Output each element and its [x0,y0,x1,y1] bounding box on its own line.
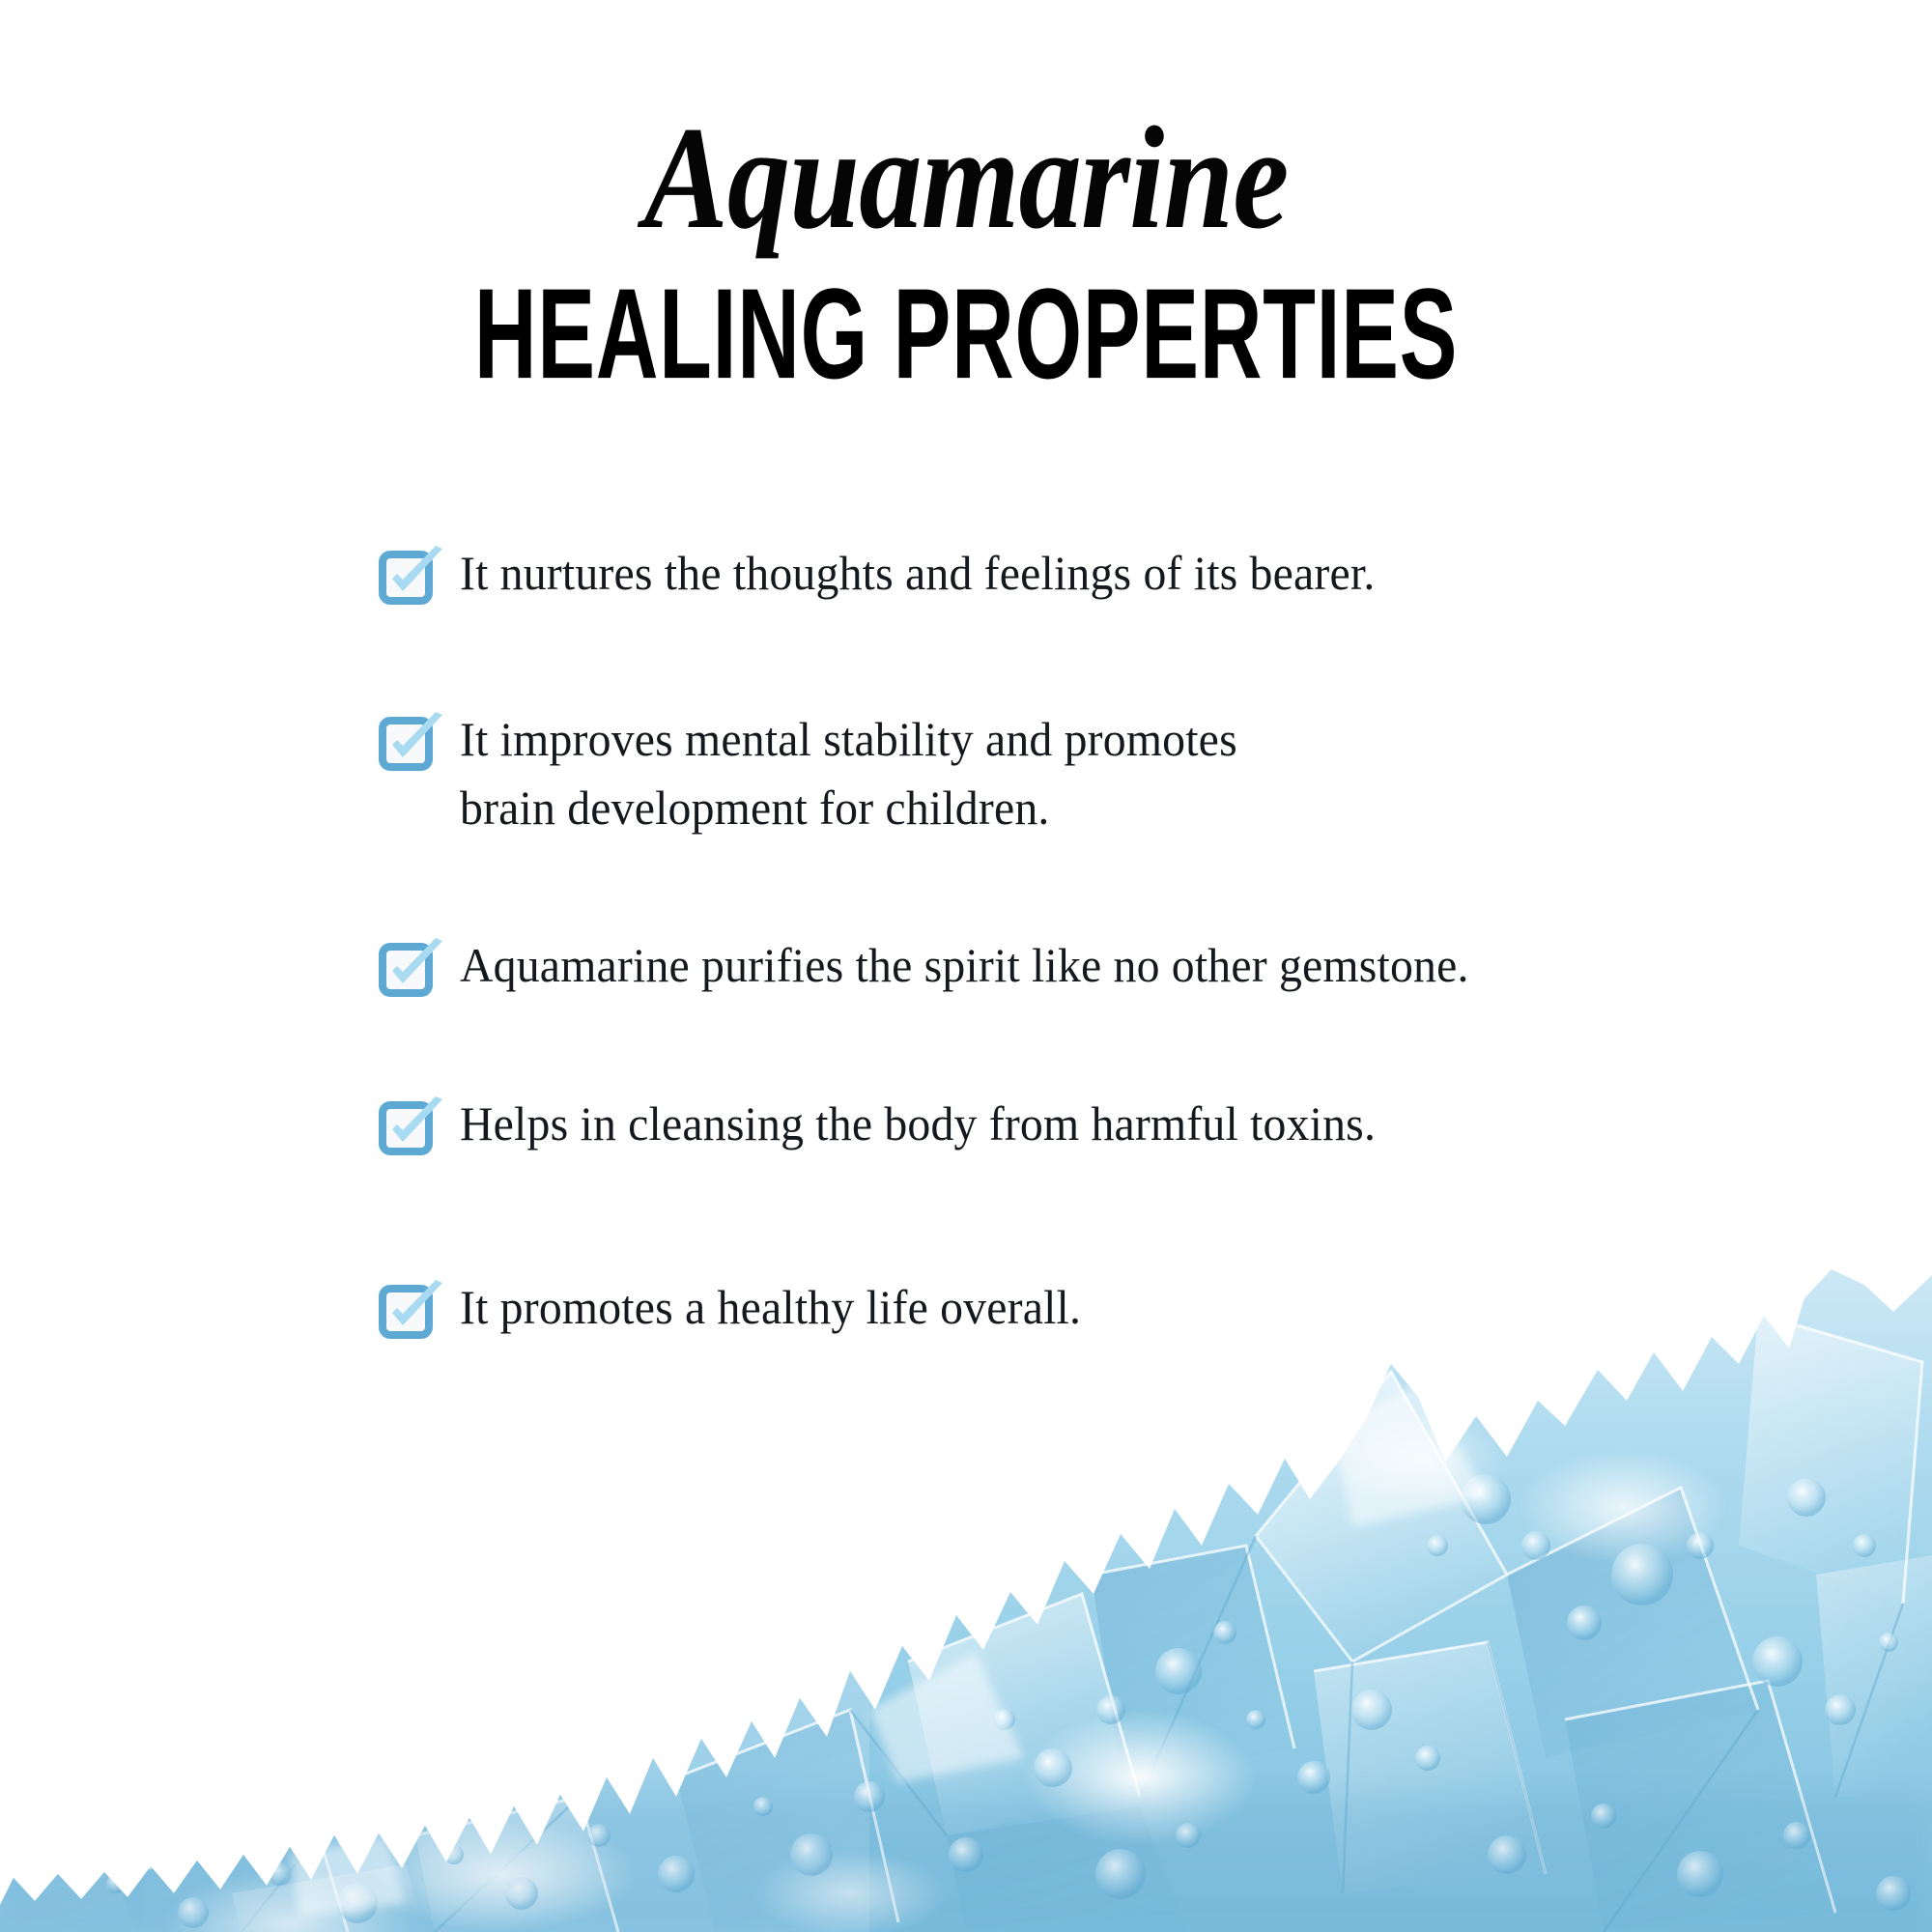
poster-header: Aquamarine HEALING PROPERTIES [0,0,1932,396]
list-item: Aquamarine purifies the spirit like no o… [379,931,1847,1001]
page-subtitle: HEALING PROPERTIES [290,248,1642,399]
healing-properties-list: It nurtures the thoughts and feelings of… [379,529,1847,1343]
checkbox-checked-icon [379,545,446,609]
checkbox-checked-icon [379,1095,446,1159]
checkbox-checked-icon [379,937,446,1001]
list-item-text: It improves mental stability and promote… [460,705,1784,842]
poster-canvas: Aquamarine HEALING PROPERTIES It nurture… [0,0,1932,1932]
list-item-text: Helps in cleansing the body from harmful… [460,1090,1784,1158]
list-item: It improves mental stability and promote… [379,705,1847,842]
list-item-text: It nurtures the thoughts and feelings of… [460,539,1784,608]
list-item: Helps in cleansing the body from harmful… [379,1090,1847,1159]
list-item-text: Aquamarine purifies the spirit like no o… [460,931,1784,1000]
crushed-ice-photo [0,1256,1932,1932]
page-title: Aquamarine [135,0,1797,251]
checkbox-checked-icon [379,711,446,775]
list-item: It nurtures the thoughts and feelings of… [379,539,1847,609]
